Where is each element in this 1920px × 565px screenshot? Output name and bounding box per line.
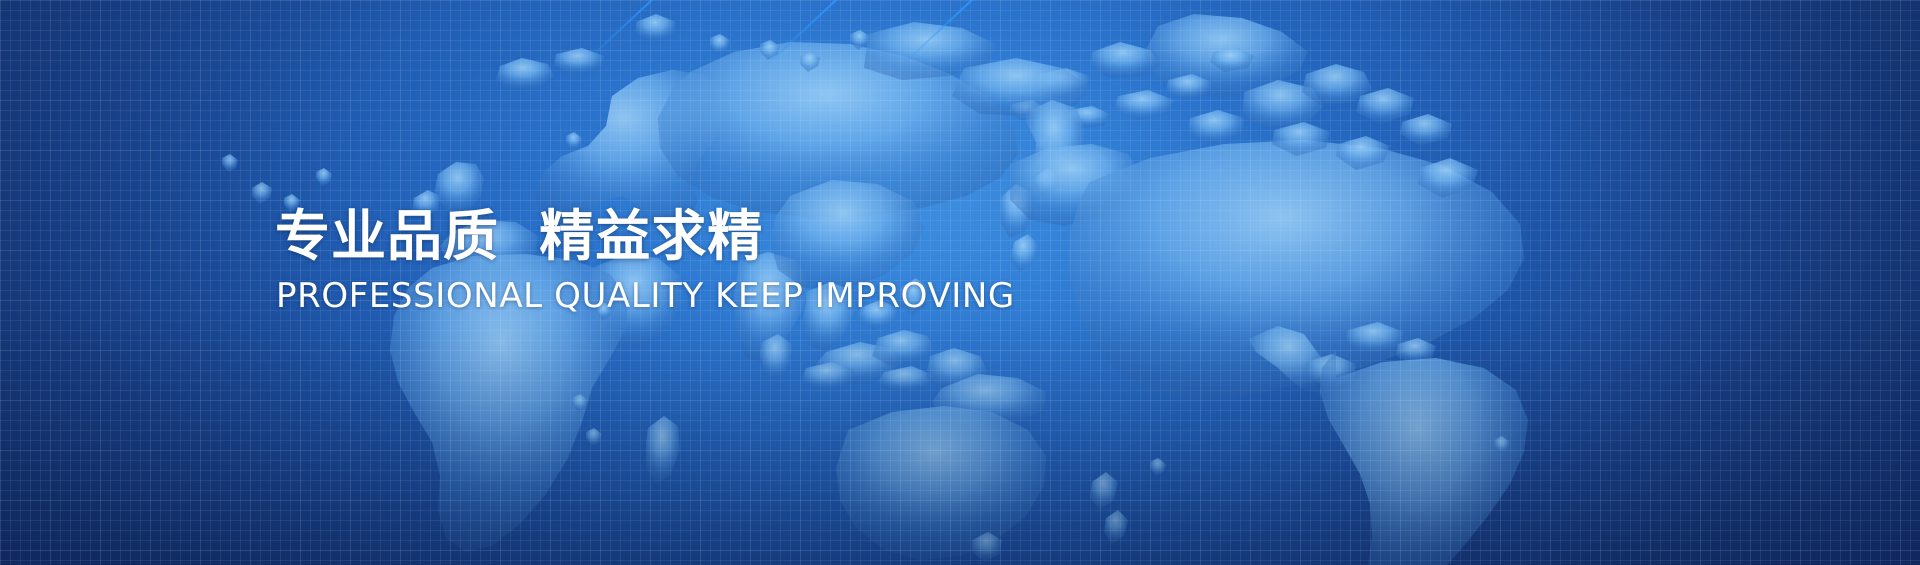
subheadline-english: PROFESSIONAL QUALITY KEEP IMPROVING [276,277,1015,316]
banner-copy: 专业品质 精益求精 PROFESSIONAL QUALITY KEEP IMPR… [275,206,1015,316]
headline-chinese: 专业品质 精益求精 [275,206,1015,268]
hero-banner: 专业品质 精益求精 PROFESSIONAL QUALITY KEEP IMPR… [0,0,1920,565]
